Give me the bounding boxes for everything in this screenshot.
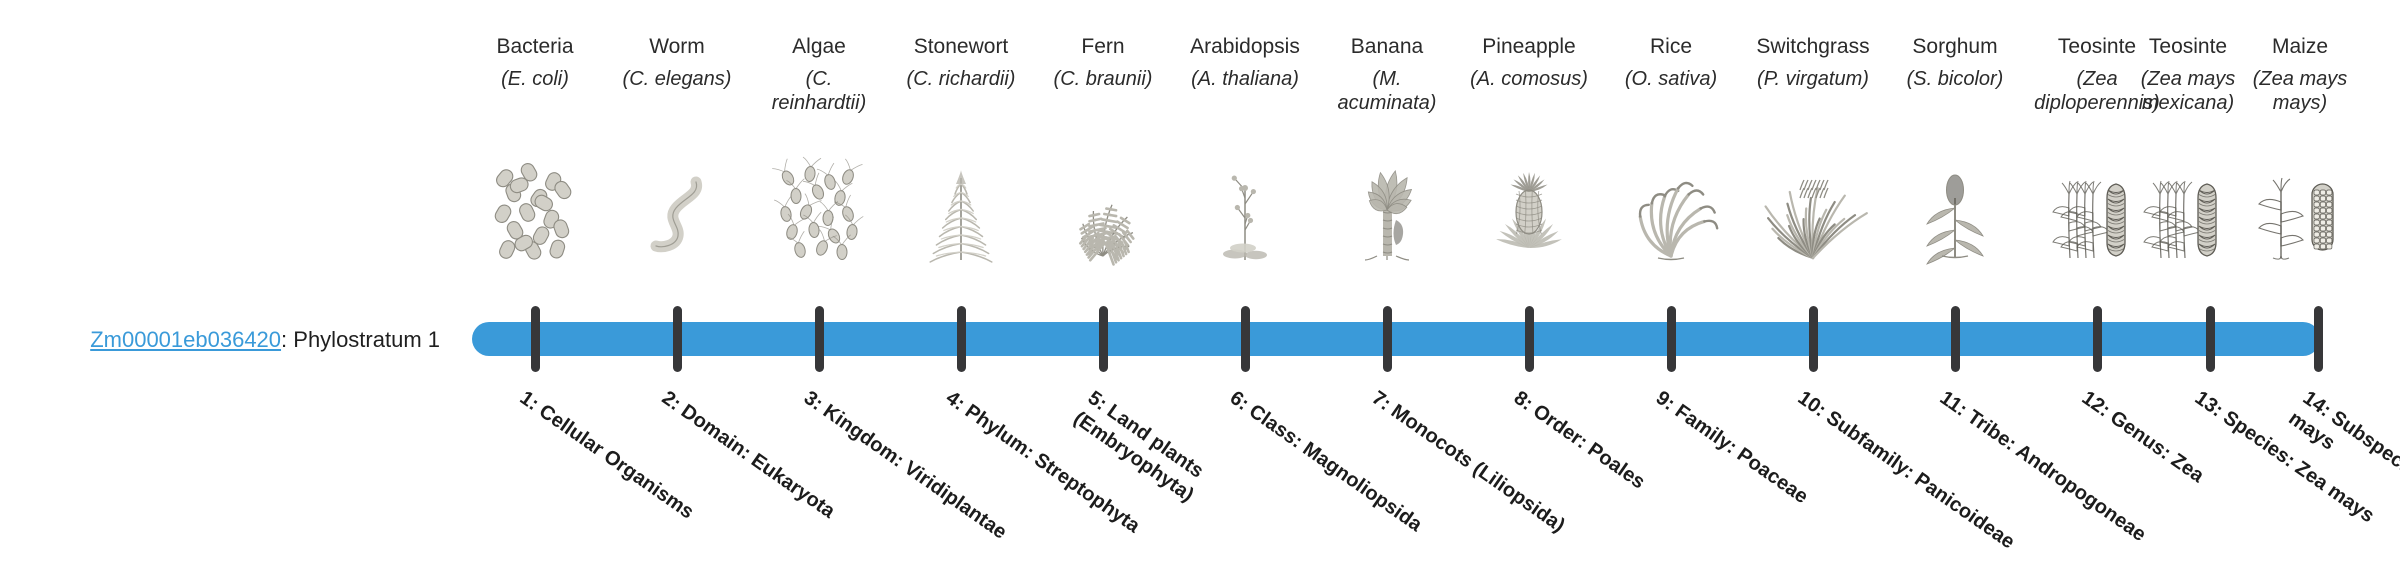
rank-label-7: 7: Monocots (Liliopsida) xyxy=(1367,386,1603,561)
species-column-bacteria: Bacteria(E. coli) xyxy=(472,34,598,91)
banana-icon xyxy=(1321,168,1453,260)
species-scientific-name: (C. reinhardtii) xyxy=(756,67,882,115)
rank-label-8: 8: Order: Poales xyxy=(1509,386,1745,561)
species-column-banana: Banana(M. acuminata) xyxy=(1324,34,1450,115)
species-column-fern: Fern(C. braunii) xyxy=(1040,34,1166,91)
species-common-name: Bacteria xyxy=(472,34,598,60)
tick-mark-3 xyxy=(815,306,824,372)
species-scientific-name: (C. braunii) xyxy=(1040,67,1166,91)
species-column-rice: Rice(O. sativa) xyxy=(1608,34,1734,91)
rank-label-9: 9: Family: Poaceae xyxy=(1651,386,1887,561)
species-scientific-name: (Zea mays mexicana) xyxy=(2125,67,2251,115)
species-column-worm: Worm(C. elegans) xyxy=(614,34,740,91)
phylostratum-bar[interactable] xyxy=(472,322,2320,356)
worm-icon xyxy=(611,168,743,260)
phylostratum-value: Phylostratum 1 xyxy=(293,327,440,352)
species-column-arabidopsis: Arabidopsis(A. thaliana) xyxy=(1182,34,1308,91)
tick-mark-7 xyxy=(1383,306,1392,372)
species-scientific-name: (A. comosus) xyxy=(1466,67,1592,91)
species-common-name: Arabidopsis xyxy=(1182,34,1308,60)
species-scientific-name: (M. acuminata) xyxy=(1324,67,1450,115)
species-scientific-name: (P. virgatum) xyxy=(1750,67,1876,91)
tick-mark-10 xyxy=(1809,306,1818,372)
rank-label-3: 3: Kingdom: Viridiplantae xyxy=(799,386,1035,561)
species-common-name: Banana xyxy=(1324,34,1450,60)
arabidopsis-icon xyxy=(1179,168,1311,260)
species-common-name: Maize xyxy=(2237,34,2363,60)
tick-mark-2 xyxy=(673,306,682,372)
tick-mark-6 xyxy=(1241,306,1250,372)
species-column-sorghum: Sorghum(S. bicolor) xyxy=(1892,34,2018,91)
rice-icon xyxy=(1605,168,1737,260)
rank-label-12: 12: Genus: Zea xyxy=(2077,386,2313,561)
rank-label-1: 1: Cellular Organisms xyxy=(515,386,751,561)
species-scientific-name: (S. bicolor) xyxy=(1892,67,2018,91)
species-scientific-name: (O. sativa) xyxy=(1608,67,1734,91)
species-column-stonewort: Stonewort(C. richardii) xyxy=(898,34,1024,91)
species-scientific-name: (C. richardii) xyxy=(898,67,1024,91)
species-column-teosinte: Teosinte(Zea mays mexicana) xyxy=(2125,34,2251,115)
species-common-name: Switchgrass xyxy=(1750,34,1876,60)
species-common-name: Algae xyxy=(756,34,882,60)
species-scientific-name: (A. thaliana) xyxy=(1182,67,1308,91)
species-column-maize: Maize(Zea mays mays) xyxy=(2237,34,2363,115)
tick-mark-1 xyxy=(531,306,540,372)
phylostratum-figure: Zm00001eb036420: Phylostratum 1 Bacteria… xyxy=(0,0,2400,580)
switchgrass-icon xyxy=(1747,168,1879,260)
species-common-name: Sorghum xyxy=(1892,34,2018,60)
tick-mark-9 xyxy=(1667,306,1676,372)
stonewort-icon xyxy=(895,168,1027,260)
tick-mark-4 xyxy=(957,306,966,372)
tick-mark-5 xyxy=(1099,306,1108,372)
fern-icon xyxy=(1037,168,1169,260)
tick-mark-12 xyxy=(2093,306,2102,372)
gene-label-separator: : xyxy=(281,327,293,352)
pineapple-icon xyxy=(1463,168,1595,260)
species-common-name: Teosinte xyxy=(2125,34,2251,60)
maize-icon xyxy=(2234,168,2366,260)
species-scientific-name: (Zea mays mays) xyxy=(2237,67,2363,115)
species-column-switchgrass: Switchgrass(P. virgatum) xyxy=(1750,34,1876,91)
species-common-name: Pineapple xyxy=(1466,34,1592,60)
gene-id-link[interactable]: Zm00001eb036420 xyxy=(90,327,281,352)
species-column-pineapple: Pineapple(A. comosus) xyxy=(1466,34,1592,91)
rank-label-2: 2: Domain: Eukaryota xyxy=(657,386,893,561)
tick-mark-8 xyxy=(1525,306,1534,372)
bacteria-icon xyxy=(469,168,601,260)
algae-icon xyxy=(753,168,885,260)
species-column-algae: Algae(C. reinhardtii) xyxy=(756,34,882,115)
tick-mark-14 xyxy=(2314,306,2323,372)
tick-mark-13 xyxy=(2206,306,2215,372)
rank-label-10: 10: Subfamily: Panicoideae xyxy=(1793,386,2029,561)
species-common-name: Worm xyxy=(614,34,740,60)
species-scientific-name: (C. elegans) xyxy=(614,67,740,91)
gene-phylostratum-label: Zm00001eb036420: Phylostratum 1 xyxy=(0,327,440,353)
species-common-name: Rice xyxy=(1608,34,1734,60)
rank-label-11: 11: Tribe: Andropogoneae xyxy=(1935,386,2171,561)
species-common-name: Stonewort xyxy=(898,34,1024,60)
species-common-name: Fern xyxy=(1040,34,1166,60)
species-scientific-name: (E. coli) xyxy=(472,67,598,91)
tick-mark-11 xyxy=(1951,306,1960,372)
sorghum-icon xyxy=(1889,168,2021,260)
